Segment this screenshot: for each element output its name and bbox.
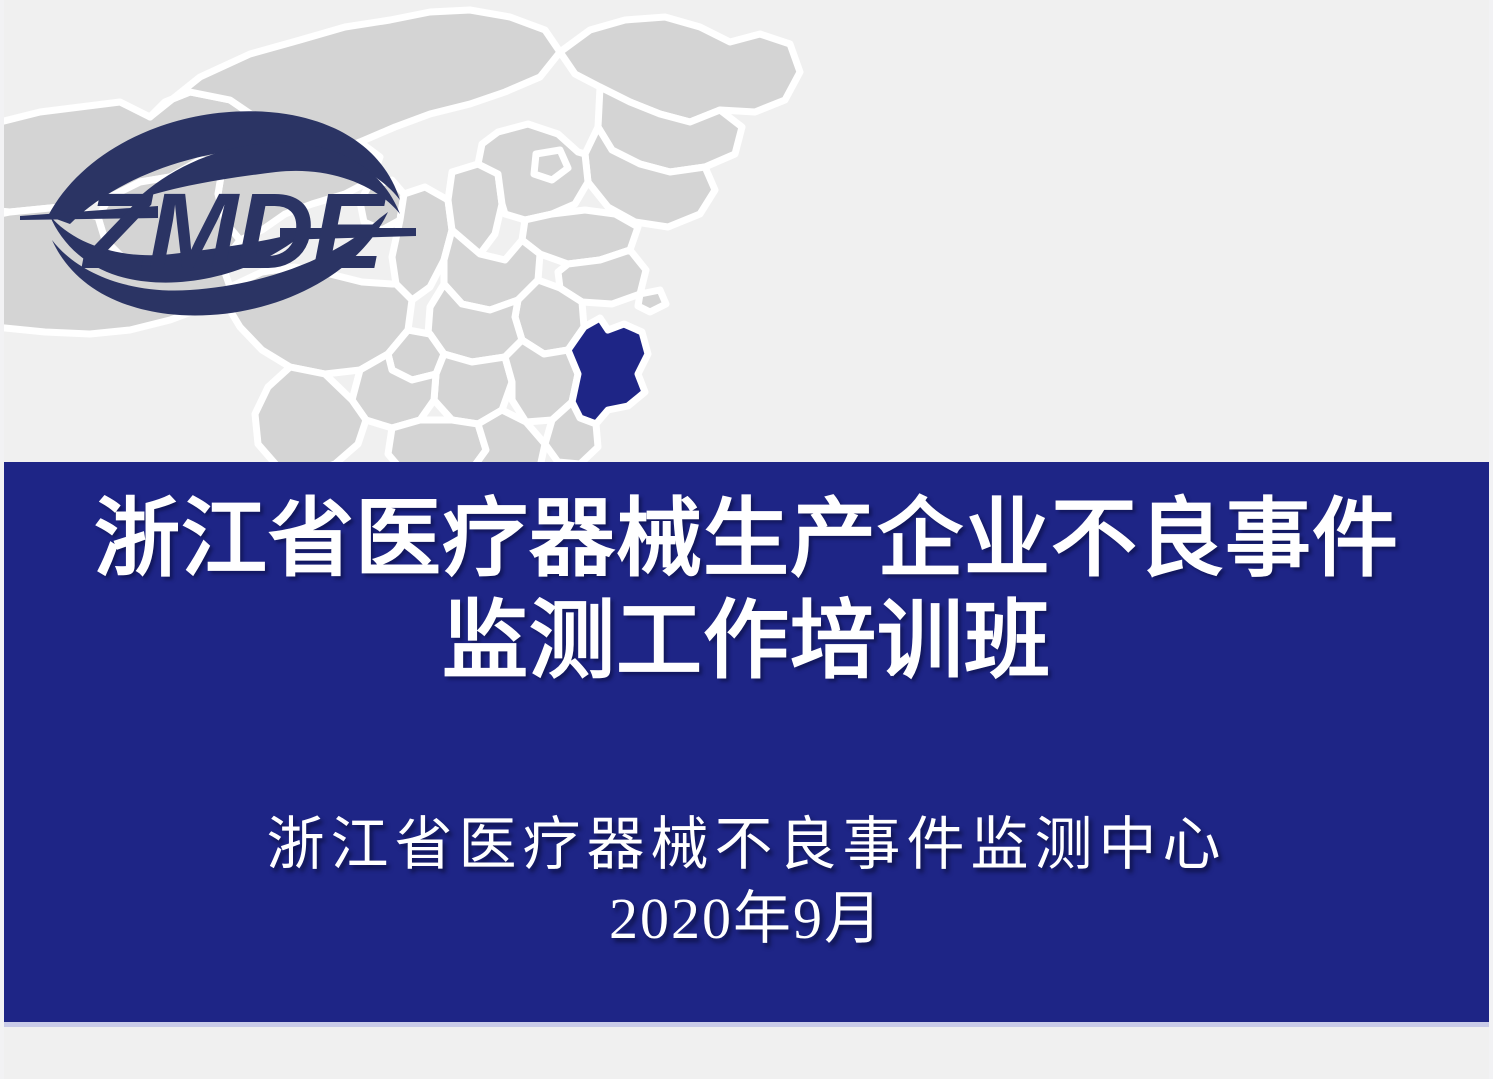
zmde-logo: ZMDE [18, 88, 418, 336]
left-edge-strip [0, 0, 4, 1079]
right-edge-strip [1489, 0, 1493, 1079]
subtitle-block: 浙江省医疗器械不良事件监测中心 2020年9月 [0, 808, 1493, 956]
map-background-area: ZMDE [0, 0, 1493, 462]
zhejiang-province-highlight [568, 318, 648, 424]
presentation-date: 2020年9月 [0, 882, 1493, 956]
title-slide: ZMDE 浙江省医疗器械生产企业不良事件 监测工作培训班 浙江省医疗器械不良事件… [0, 0, 1493, 1079]
page-title: 浙江省医疗器械生产企业不良事件 监测工作培训班 [0, 488, 1493, 692]
organization-name: 浙江省医疗器械不良事件监测中心 [0, 808, 1493, 882]
title-line-1: 浙江省医疗器械生产企业不良事件 [0, 488, 1493, 590]
title-line-2: 监测工作培训班 [0, 590, 1493, 692]
slide-footer-strip [0, 1027, 1493, 1079]
zmde-wordmark: ZMDE [81, 170, 387, 291]
zmde-logo-graphic: ZMDE [18, 88, 418, 336]
